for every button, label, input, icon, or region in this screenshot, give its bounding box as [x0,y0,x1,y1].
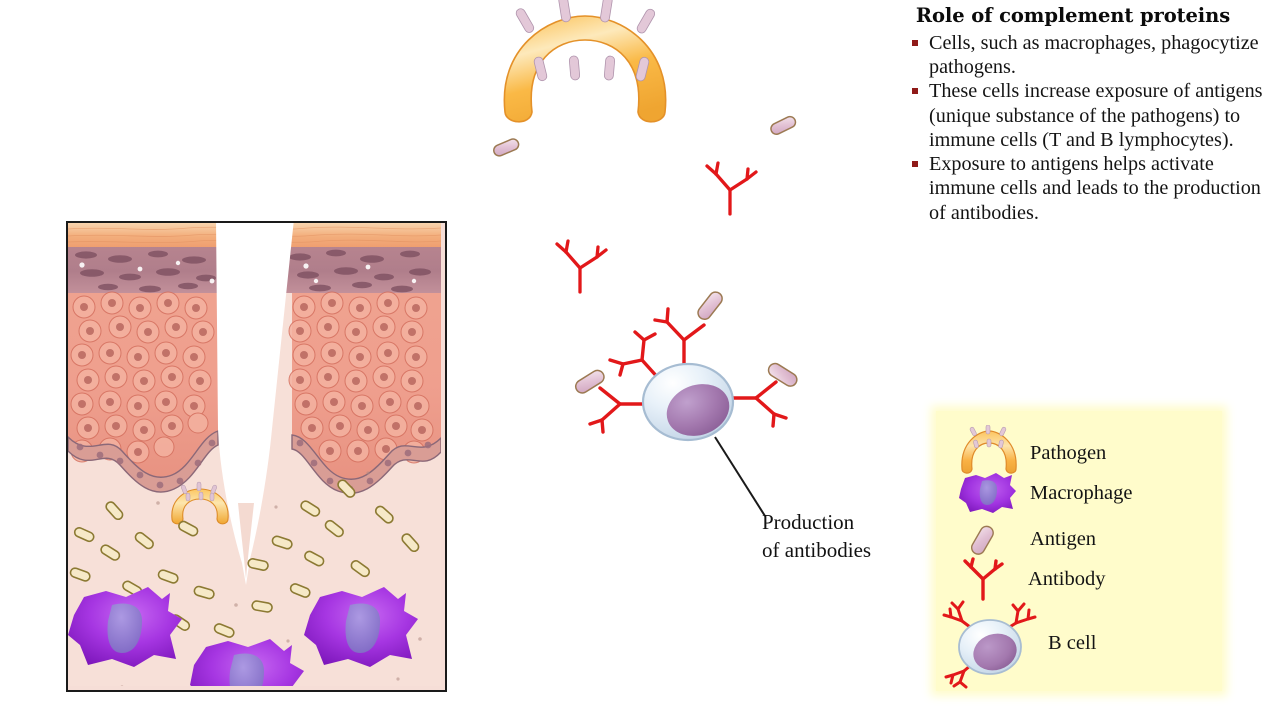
legend-label: B cell [1048,632,1096,655]
bullet-item: These cells increase exposure of antigen… [912,79,1276,152]
legend-label: Macrophage [1030,482,1132,505]
legend-box: Pathogen Macrophage [936,411,1222,691]
bullet-marker-icon [912,40,918,46]
macrophage [68,587,182,667]
pathogen-large [504,0,665,122]
callout-line-1: Production [762,508,871,536]
bullet-marker-icon [912,88,918,94]
free-antigen [492,137,520,157]
callout-label: Production of antibodies [762,508,871,565]
free-antigen [769,115,797,136]
free-antibody [707,163,756,214]
bullet-marker-icon [912,161,918,167]
text-panel: Role of complement proteins Cells, such … [866,4,1276,225]
bullet-text: Exposure to antigens helps activate immu… [929,153,1261,223]
bullet-item: Exposure to antigens helps activate immu… [912,152,1276,225]
legend-label: Pathogen [1030,442,1106,465]
legend-item-b-cell: B cell [938,597,1096,689]
page-title: Role of complement proteins [866,4,1276,27]
b-cell-icon [938,597,1046,689]
callout-line-2: of antibodies [762,536,871,564]
macrophage [304,587,418,667]
bullet-text: Cells, such as macrophages, phagocytize … [929,32,1259,78]
bullet-item: Cells, such as macrophages, phagocytize … [912,31,1276,79]
skin-wound-illustration [66,221,447,692]
free-antibody [557,241,606,292]
callout-leader-line [715,437,765,516]
legend-label: Antibody [1028,568,1105,591]
bullet-text: These cells increase exposure of antigen… [929,80,1263,150]
legend-label: Antigen [1030,528,1096,551]
bullet-list: Cells, such as macrophages, phagocytize … [866,31,1276,225]
b-cell-complex [573,289,799,444]
